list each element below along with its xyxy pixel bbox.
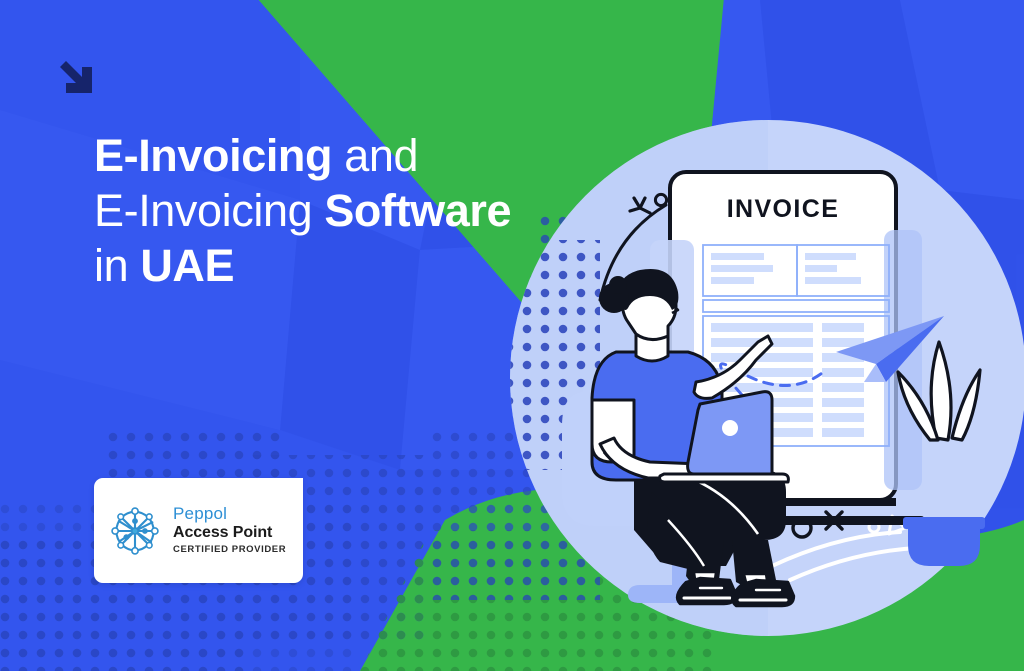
headline-line-3: in UAE: [94, 238, 614, 293]
marketing-banner: E-Invoicing and E-Invoicing Software in …: [0, 0, 1024, 671]
badge-card: Peppol Access Point CERTIFIED PROVIDER: [94, 478, 303, 583]
headline-line-1: E-Invoicing and: [94, 128, 614, 183]
badge-qualifier: CERTIFIED PROVIDER: [173, 543, 286, 557]
headline-light-3: in: [94, 240, 140, 291]
invoice-document-title: INVOICE: [670, 195, 896, 224]
headline-bold-2: Software: [324, 185, 511, 236]
peppol-certification-badge[interactable]: Peppol Access Point CERTIFIED PROVIDER: [94, 478, 303, 583]
page-title: E-Invoicing and E-Invoicing Software in …: [94, 128, 614, 293]
badge-product: Access Point: [173, 523, 286, 543]
arrow-down-right-icon: [54, 55, 98, 99]
badge-text-block: Peppol Access Point CERTIFIED PROVIDER: [173, 504, 286, 557]
headline-bold-1: E-Invoicing: [94, 130, 332, 181]
headline-bold-3: UAE: [140, 240, 234, 291]
headline-line-2: E-Invoicing Software: [94, 183, 614, 238]
badge-brand: Peppol: [173, 504, 286, 523]
headline-light-1: and: [332, 130, 418, 181]
peppol-network-logo: [104, 500, 166, 562]
headline-light-2: E-Invoicing: [94, 185, 324, 236]
plant-pot: [908, 524, 980, 566]
plant-pot-rim: [903, 517, 985, 529]
